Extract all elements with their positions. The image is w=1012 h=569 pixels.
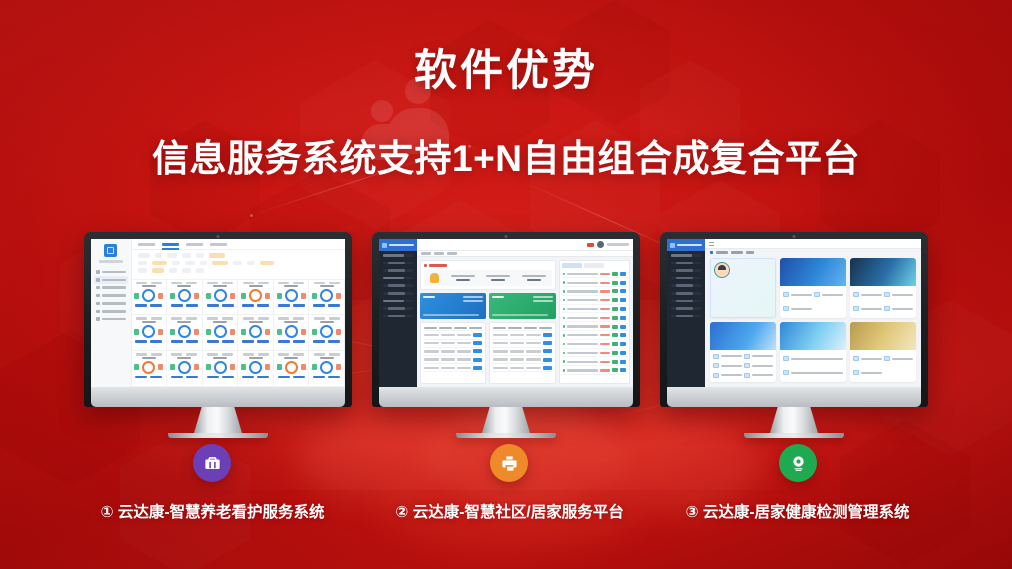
link-icon <box>884 356 890 361</box>
briefcase-icon <box>203 454 222 473</box>
summary-card-green[interactable] <box>489 293 555 319</box>
sidebar-item[interactable] <box>94 315 128 323</box>
nav-item[interactable] <box>671 284 701 287</box>
screen-care-dashboard[interactable] <box>91 239 345 387</box>
card-link[interactable] <box>713 372 742 379</box>
card-link[interactable] <box>884 303 913 315</box>
service-card[interactable] <box>780 258 846 318</box>
card-link[interactable] <box>783 289 812 301</box>
row-action-button[interactable] <box>543 358 552 362</box>
avatar[interactable] <box>597 241 604 248</box>
link-icon <box>853 292 859 297</box>
list-item[interactable] <box>562 341 627 349</box>
page-subtitle: 信息服务系统支持1+N自由组合成复合平台 <box>0 128 1012 182</box>
row-action-button[interactable] <box>543 366 552 370</box>
nav-item[interactable] <box>383 315 413 318</box>
service-card-grid[interactable] <box>705 256 921 387</box>
card-link[interactable] <box>744 353 773 360</box>
tab[interactable] <box>210 243 227 246</box>
card-link[interactable] <box>853 289 882 301</box>
list-item[interactable] <box>562 323 627 331</box>
brand-icon <box>670 243 675 248</box>
table-row <box>423 356 483 364</box>
sidebar-item-label <box>102 294 126 297</box>
brand-label <box>389 244 414 247</box>
link-icon <box>783 370 789 375</box>
app-logo-icon <box>104 244 117 257</box>
list-item[interactable] <box>562 306 627 314</box>
card-link[interactable] <box>853 353 882 365</box>
resident-card[interactable] <box>167 280 203 316</box>
link-icon <box>853 370 859 375</box>
table-row <box>492 331 552 339</box>
sidebar-item[interactable] <box>94 268 128 276</box>
tab-active[interactable] <box>562 263 582 268</box>
printer-icon <box>500 454 519 473</box>
activity-list-panel[interactable] <box>559 260 630 384</box>
sidebar-item-label <box>102 310 126 313</box>
resident-card[interactable] <box>132 280 168 316</box>
table-row <box>423 364 483 372</box>
resident-card[interactable] <box>132 315 168 351</box>
dashboard-tabs[interactable] <box>132 239 345 250</box>
resident-card[interactable] <box>167 351 203 387</box>
resident-card[interactable] <box>167 315 203 351</box>
resident-card-grid[interactable] <box>132 280 345 388</box>
resident-card[interactable] <box>274 315 310 351</box>
tab[interactable] <box>186 243 203 246</box>
list-item[interactable] <box>562 288 627 296</box>
data-tables <box>420 322 556 384</box>
list-action-button[interactable] <box>620 272 626 276</box>
card-link[interactable] <box>713 353 742 360</box>
product-badge-2[interactable] <box>490 444 528 482</box>
card-link[interactable] <box>814 289 843 301</box>
table-row <box>423 348 483 356</box>
row-action-button[interactable] <box>473 358 482 362</box>
tab-active[interactable] <box>162 243 179 246</box>
webcam-dot <box>217 235 220 238</box>
monitor-community-platform <box>372 232 640 438</box>
nav-icon <box>96 278 100 282</box>
table-row <box>492 348 552 356</box>
nav-icon <box>96 317 100 321</box>
link-icon <box>814 292 820 297</box>
row-action-button[interactable] <box>543 333 552 337</box>
health-nav[interactable] <box>667 251 705 325</box>
brand-icon <box>382 243 387 248</box>
service-card[interactable] <box>850 322 916 382</box>
row-action-button[interactable] <box>543 341 552 345</box>
link-icon <box>713 373 719 378</box>
bell-icon <box>430 273 439 283</box>
summary-card-blue[interactable] <box>420 293 486 319</box>
nav-item[interactable] <box>383 262 413 265</box>
nav-item[interactable] <box>671 292 701 295</box>
sidebar-item-label <box>102 286 126 289</box>
card-banner-image <box>710 322 776 350</box>
alert-icon <box>424 264 427 267</box>
stat-item <box>522 275 546 282</box>
link-icon <box>853 306 859 311</box>
stat-item <box>451 275 475 282</box>
card-link[interactable] <box>744 362 773 369</box>
card-link[interactable] <box>884 353 913 365</box>
nav-item[interactable] <box>671 315 701 318</box>
monitor-stand-foot <box>168 433 268 438</box>
card-link[interactable] <box>783 303 812 315</box>
monitor-chin <box>379 387 633 407</box>
sidebar-item-label <box>102 271 126 274</box>
card-banner-image <box>780 258 846 286</box>
breadcrumb[interactable] <box>705 249 921 256</box>
sidebar-item[interactable] <box>94 284 128 292</box>
nav-icon <box>96 310 100 314</box>
nav-icon <box>96 302 100 306</box>
resident-card[interactable] <box>238 280 274 316</box>
monitor-stand-foot <box>744 433 844 438</box>
table-row <box>492 340 552 348</box>
dashboard-sidebar[interactable] <box>91 239 132 387</box>
slide-background: 软件优势 信息服务系统支持1+N自由组合成复合平台 <box>0 0 1012 569</box>
link-icon <box>884 306 890 311</box>
platform-main <box>417 239 633 387</box>
menu-icon[interactable] <box>709 242 714 246</box>
card-banner-image <box>780 322 846 350</box>
sidebar-item-label <box>102 279 126 282</box>
page-title: 软件优势 <box>0 36 1012 98</box>
resident-card[interactable] <box>309 315 345 351</box>
filter-bar[interactable] <box>132 250 345 280</box>
sidebar-title <box>99 260 123 263</box>
health-brand <box>667 239 705 251</box>
row-action-button[interactable] <box>543 349 552 353</box>
product-caption-2: ② 云达康-智慧社区/居家服务平台 <box>357 500 662 522</box>
resident-card[interactable] <box>274 280 310 316</box>
service-card[interactable] <box>850 258 916 318</box>
health-main <box>705 239 921 387</box>
nav-item[interactable] <box>383 307 413 310</box>
resident-card[interactable] <box>274 351 310 387</box>
alert-title <box>429 264 447 266</box>
monitor-health-user-center <box>660 232 928 438</box>
stat-row <box>424 270 552 286</box>
card-link[interactable] <box>783 353 843 365</box>
dashboard-main <box>132 239 345 387</box>
nav-group[interactable] <box>383 277 413 280</box>
data-table[interactable] <box>489 322 555 384</box>
monitor-stand-neck <box>194 407 242 433</box>
list-item[interactable] <box>562 358 627 366</box>
link-icon <box>744 354 750 359</box>
data-table[interactable] <box>420 322 486 384</box>
link-icon <box>853 356 859 361</box>
monitor-stand-neck <box>482 407 530 433</box>
webcam-dot <box>793 235 796 238</box>
nav-item[interactable] <box>383 292 413 295</box>
resident-card[interactable] <box>238 315 274 351</box>
link-icon <box>713 354 719 359</box>
nav-icon <box>96 294 100 298</box>
health-topbar[interactable] <box>705 239 921 249</box>
monitor-care-dashboard <box>84 232 352 438</box>
breadcrumb-icon <box>710 251 713 254</box>
resident-card[interactable] <box>203 280 239 316</box>
platform-sidebar[interactable] <box>379 239 417 387</box>
user-name <box>607 243 629 246</box>
user-profile-card[interactable] <box>710 258 776 318</box>
sidebar-item-label <box>102 318 126 321</box>
list-item[interactable] <box>562 332 627 340</box>
list-item[interactable] <box>562 367 627 375</box>
resident-card[interactable] <box>203 315 239 351</box>
nav-item[interactable] <box>671 262 701 265</box>
monitor-stand-foot <box>456 433 556 438</box>
sidebar-item[interactable] <box>94 307 128 315</box>
nav-group[interactable] <box>671 254 701 257</box>
list-item[interactable] <box>562 350 627 358</box>
monitor-chin <box>91 387 345 407</box>
nav-item[interactable] <box>671 277 701 280</box>
resident-card[interactable] <box>203 351 239 387</box>
tab[interactable] <box>138 243 155 246</box>
webcam-dot <box>505 235 508 238</box>
nav-item[interactable] <box>671 307 701 310</box>
list-item[interactable] <box>562 279 627 287</box>
nav-item[interactable] <box>383 284 413 287</box>
link-icon <box>783 356 789 361</box>
nav-item[interactable] <box>671 269 701 272</box>
table-row <box>492 364 552 372</box>
card-link[interactable] <box>853 303 882 315</box>
sidebar-item-label <box>102 302 126 305</box>
resident-card[interactable] <box>238 351 274 387</box>
stat-item <box>486 275 510 282</box>
card-banner-image <box>850 258 916 286</box>
card-link[interactable] <box>853 367 882 379</box>
camera-icon <box>789 454 808 473</box>
row-action-button[interactable] <box>473 333 482 337</box>
resident-card[interactable] <box>309 351 345 387</box>
link-icon <box>783 292 789 297</box>
row-action-button[interactable] <box>473 349 482 353</box>
monitor-stand-neck <box>770 407 818 433</box>
link-icon <box>783 306 789 311</box>
service-card[interactable] <box>710 322 776 382</box>
sidebar-item-active[interactable] <box>94 276 128 284</box>
avatar <box>714 262 730 278</box>
table-row <box>423 340 483 348</box>
card-link[interactable] <box>744 372 773 379</box>
link-icon <box>713 363 719 368</box>
alert-panel <box>420 260 556 290</box>
service-card[interactable] <box>780 322 846 382</box>
product-badge-3[interactable] <box>779 444 817 482</box>
nav-item[interactable] <box>671 300 701 303</box>
monitor-chin <box>667 387 921 407</box>
link-icon <box>744 363 750 368</box>
link-icon <box>744 373 750 378</box>
brand-label <box>677 244 702 247</box>
platform-nav[interactable] <box>379 251 417 325</box>
card-link[interactable] <box>783 367 843 379</box>
resident-card[interactable] <box>132 351 168 387</box>
status-dot <box>563 273 566 276</box>
notification-badge[interactable] <box>587 243 594 247</box>
product-caption-1: ① 云达康-智慧养老看护服务系统 <box>60 500 365 522</box>
screen-community-platform[interactable] <box>379 239 633 387</box>
summary-cards <box>420 293 556 319</box>
platform-body <box>417 257 633 387</box>
link-icon <box>884 292 890 297</box>
panel-tabs[interactable] <box>562 263 627 268</box>
list-item[interactable] <box>562 297 627 305</box>
row-action-button[interactable] <box>473 341 482 345</box>
platform-brand <box>379 239 417 251</box>
list-item[interactable] <box>562 271 627 279</box>
nav-icon <box>96 270 100 274</box>
card-link[interactable] <box>713 362 742 369</box>
nav-group[interactable] <box>383 300 413 303</box>
tab[interactable] <box>584 263 604 268</box>
platform-topbar[interactable] <box>417 239 633 251</box>
product-caption-3: ③ 云达康-居家健康检测管理系统 <box>645 500 950 522</box>
table-row <box>492 356 552 364</box>
health-sidebar[interactable] <box>667 239 705 387</box>
sidebar-item[interactable] <box>94 292 128 300</box>
card-banner-image <box>850 322 916 350</box>
nav-icon <box>96 286 100 290</box>
nav-item[interactable] <box>383 269 413 272</box>
card-link[interactable] <box>884 289 913 301</box>
nav-group[interactable] <box>383 254 413 257</box>
product-badge-1[interactable] <box>193 444 231 482</box>
sidebar-item[interactable] <box>94 300 128 308</box>
screen-health-user-center[interactable] <box>667 239 921 387</box>
list-item[interactable] <box>562 314 627 322</box>
resident-card[interactable] <box>309 280 345 316</box>
list-action-button[interactable] <box>612 272 618 276</box>
table-row <box>423 331 483 339</box>
row-action-button[interactable] <box>473 366 482 370</box>
